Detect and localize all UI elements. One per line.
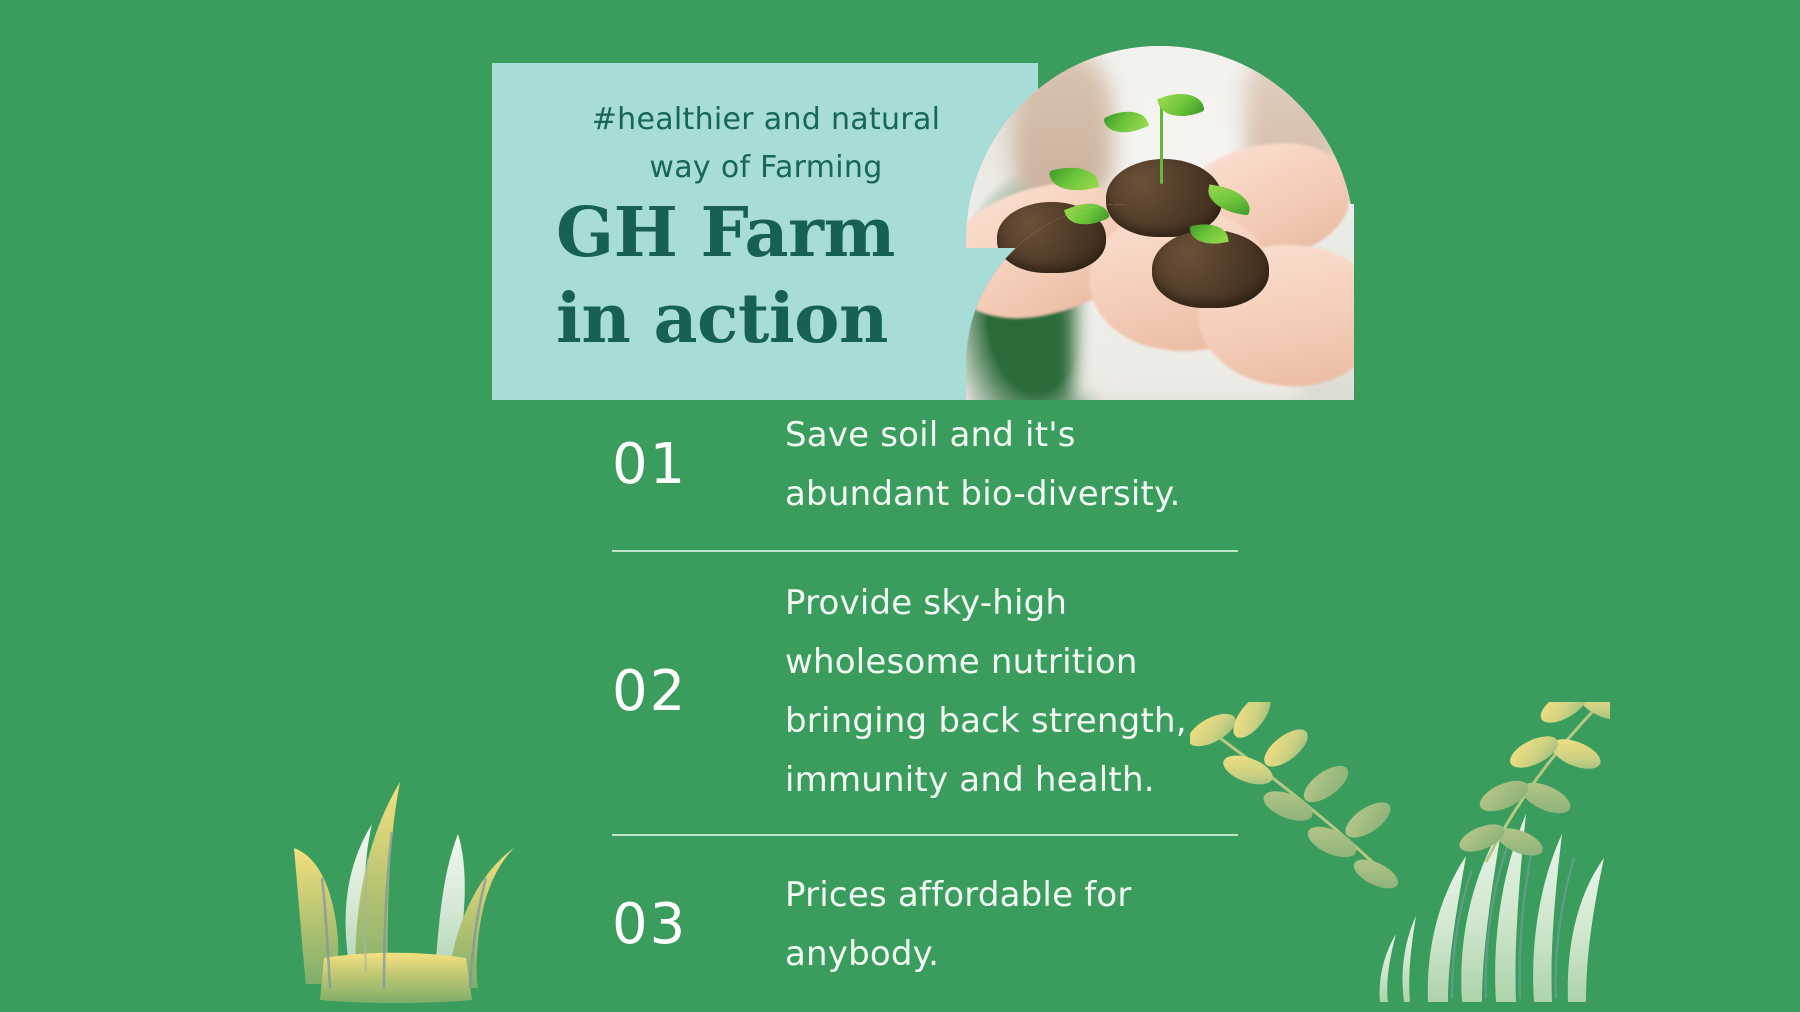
list-item-text-line: bringing back strength, <box>785 692 1252 751</box>
photo-stem-1 <box>1160 106 1163 184</box>
list-item-text-line: Save soil and it's <box>785 406 1252 465</box>
tagline-line-1: #healthier and natural <box>556 96 976 144</box>
presentation-slide: #healthier and natural way of Farming GH… <box>0 0 1800 1012</box>
list-item: 01 Save soil and it's abundant bio-diver… <box>612 406 1252 550</box>
list-item-number: 03 <box>612 897 785 953</box>
list-item-number: 01 <box>612 437 785 493</box>
title-line-1: GH Farm <box>556 193 895 273</box>
list-item-text-line: immunity and health. <box>785 751 1252 810</box>
list-item-text-line: wholesome nutrition <box>785 633 1252 692</box>
photo-content-bottom <box>966 204 1354 400</box>
list-item-text-line: anybody. <box>785 925 1252 984</box>
page-title: GH Farm in action <box>556 190 986 362</box>
benefits-list: 01 Save soil and it's abundant bio-diver… <box>612 406 1252 984</box>
plant-decoration-left <box>286 762 522 1012</box>
list-item-text: Save soil and it's abundant bio-diversit… <box>785 406 1252 524</box>
list-item-number: 02 <box>612 664 785 720</box>
list-item-text: Provide sky-high wholesome nutrition bri… <box>785 574 1252 810</box>
list-item-text-line: Prices affordable for <box>785 866 1252 925</box>
tagline-line-2: way of Farming <box>556 144 976 192</box>
list-item-text: Prices affordable for anybody. <box>785 866 1252 984</box>
list-item: 03 Prices affordable for anybody. <box>612 836 1252 984</box>
list-item-text-line: abundant bio-diversity. <box>785 465 1252 524</box>
hero-photo <box>966 46 1354 400</box>
list-item: 02 Provide sky-high wholesome nutrition … <box>612 552 1252 834</box>
photo-arch-bottom <box>966 204 1354 400</box>
tagline: #healthier and natural way of Farming <box>556 96 976 192</box>
list-item-text-line: Provide sky-high <box>785 574 1252 633</box>
plant-decoration-right <box>1190 702 1610 1012</box>
title-line-2: in action <box>556 276 986 362</box>
